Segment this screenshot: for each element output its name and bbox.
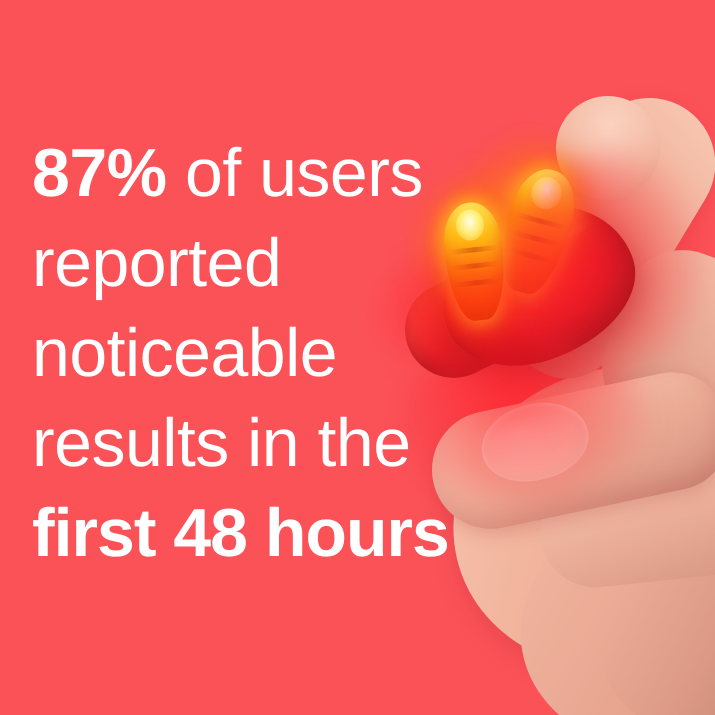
headline-line-4: results in the [32, 398, 552, 488]
headline-line-2: reported [32, 218, 552, 308]
headline-line-5: first 48 hours [32, 488, 552, 578]
stat-value: 87% [32, 135, 167, 211]
headline-line-1: 87% of users [32, 128, 552, 218]
headline-line-1-rest: of users [167, 135, 423, 211]
headline: 87% of users reported noticeable results… [32, 128, 552, 578]
headline-line-3: noticeable [32, 308, 552, 398]
promo-card: 87% of users reported noticeable results… [0, 0, 715, 715]
